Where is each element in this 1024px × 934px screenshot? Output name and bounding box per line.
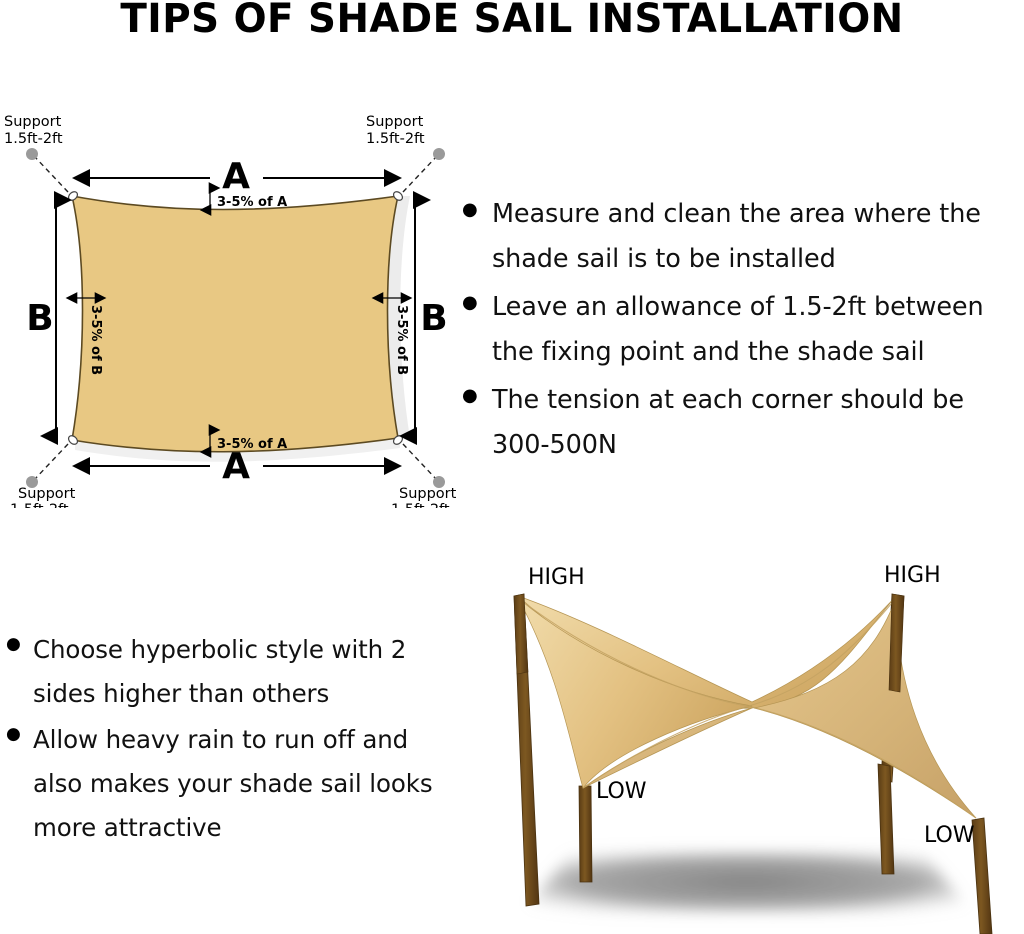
list-item-text: Choose hyperbolic style with 2 sides hig… — [33, 628, 446, 716]
dimension-label-top-a: A — [222, 156, 250, 197]
list-item: ● Leave an allowance of 1.5-2ft between … — [462, 285, 1024, 375]
curve-label-bottom: 3-5% of A — [217, 437, 287, 452]
dimension-label-right-b: B — [420, 298, 447, 339]
support-label-bottom-left-line1: Support — [18, 486, 76, 502]
bullet-dot-icon: ● — [462, 285, 492, 312]
post-low-left — [579, 786, 592, 882]
hyperbolic-style-tips-list: ● Choose hyperbolic style with 2 sides h… — [6, 628, 446, 852]
curve-label-left: 3-5% of B — [88, 305, 103, 375]
tether-line-top-left — [34, 156, 68, 192]
label-low-right: LOW — [924, 823, 975, 848]
list-item-text: Measure and clean the area where the sha… — [492, 192, 1024, 282]
tether-line-bottom-right — [403, 444, 437, 480]
tether-line-top-right — [403, 156, 437, 192]
curve-label-right: 3-5% of B — [394, 305, 409, 375]
dimension-label-bottom-a: A — [222, 446, 250, 487]
support-label-top-right-line2: 1.5ft-2ft — [366, 131, 425, 147]
support-label-top-right-line1: Support — [366, 114, 424, 130]
list-item: ● The tension at each corner should be 3… — [462, 378, 1024, 468]
label-high-right: HIGH — [884, 563, 941, 588]
support-label-bottom-left-line2: 1.5ft-2ft — [10, 502, 69, 508]
list-item: ● Measure and clean the area where the s… — [462, 192, 1024, 282]
support-label-bottom-right-line1: Support — [399, 486, 457, 502]
list-item-text: Leave an allowance of 1.5-2ft between th… — [492, 285, 1024, 375]
label-high-left: HIGH — [528, 565, 585, 590]
support-label-bottom-right-line2: 1.5ft-2ft — [391, 502, 450, 508]
rectangular-sail-diagram: Support 1.5ft-2ft Support 1.5ft-2ft Supp… — [0, 108, 470, 508]
page-title: TIPS OF SHADE SAIL INSTALLATION — [15, 0, 1008, 42]
support-label-top-left-line1: Support — [4, 114, 62, 130]
list-item-text: The tension at each corner should be 300… — [492, 378, 1024, 468]
bullet-dot-icon: ● — [462, 192, 492, 219]
bullet-dot-icon: ● — [6, 628, 33, 653]
label-low-left: LOW — [596, 779, 647, 804]
hyperbolic-sail-illustration: HIGH HIGH LOW LOW — [452, 552, 1024, 934]
tether-line-bottom-left — [34, 444, 68, 480]
installation-tips-list: ● Measure and clean the area where the s… — [462, 192, 1024, 471]
support-dot-top-left — [26, 148, 38, 160]
bullet-dot-icon: ● — [6, 718, 33, 743]
curve-label-top: 3-5% of A — [217, 195, 287, 210]
bullet-dot-icon: ● — [462, 378, 492, 405]
list-item-text: Allow heavy rain to run off and also mak… — [33, 718, 446, 850]
page-root: TIPS OF SHADE SAIL INSTALLATION Support … — [0, 0, 1024, 934]
list-item: ● Allow heavy rain to run off and also m… — [6, 718, 446, 850]
shade-sail-fabric — [72, 196, 398, 452]
support-label-top-left-line2: 1.5ft-2ft — [4, 131, 63, 147]
support-dot-top-right — [433, 148, 445, 160]
post-low-right — [972, 818, 992, 934]
dimension-label-left-b: B — [26, 298, 53, 339]
list-item: ● Choose hyperbolic style with 2 sides h… — [6, 628, 446, 716]
